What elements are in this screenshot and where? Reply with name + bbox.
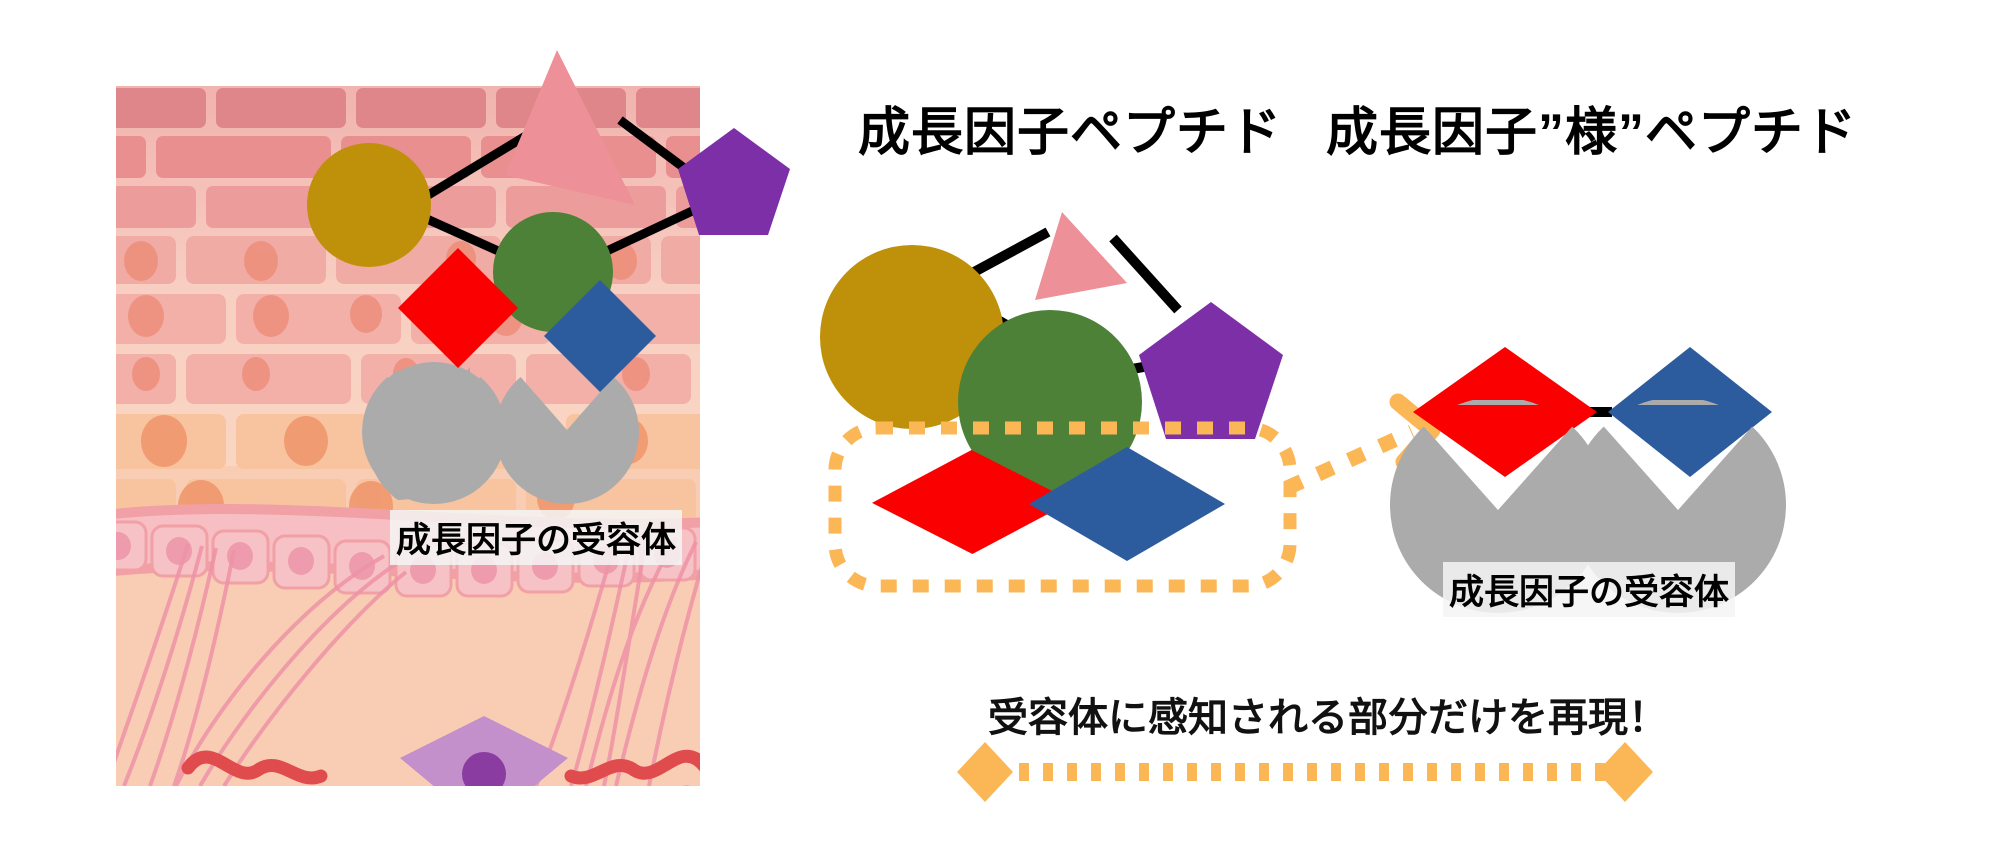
blue-diamond-mid xyxy=(1029,447,1225,561)
purple-pentagon-mid xyxy=(1139,302,1283,439)
diagram-canvas: 成長因子ペプチド 成長因子”様”ペプチド 成長因子の受容体 成長因子の受容体 受… xyxy=(0,0,2000,857)
caption-rule-right-diamond xyxy=(1597,742,1653,802)
bottom-caption: 受容体に感知される部分だけを再現！ xyxy=(988,685,1668,743)
blue-diamond-right xyxy=(1608,347,1772,477)
receptor-label-left: 成長因子の受容体 xyxy=(390,510,682,565)
pink-triangle-mid xyxy=(1035,212,1127,300)
red-diamond-right xyxy=(1413,347,1597,477)
title-growth-factor-peptide: 成長因子ペプチド xyxy=(858,90,1282,165)
red-diamond-mid xyxy=(872,449,1073,555)
green-circle-mid xyxy=(958,310,1142,494)
caption-rule xyxy=(957,742,1653,802)
transfer-arrow-head xyxy=(1398,402,1432,462)
gold-circle-mid xyxy=(820,245,1004,429)
skin-cross-section-illustration xyxy=(116,86,700,786)
caption-rule-left-diamond xyxy=(957,742,1013,802)
receptor-label-right: 成長因子の受容体 xyxy=(1443,562,1735,617)
title-growth-factor-like-peptide: 成長因子”様”ペプチド xyxy=(1326,90,1857,165)
transfer-arrow xyxy=(1287,432,1412,488)
highlight-box xyxy=(835,428,1290,586)
